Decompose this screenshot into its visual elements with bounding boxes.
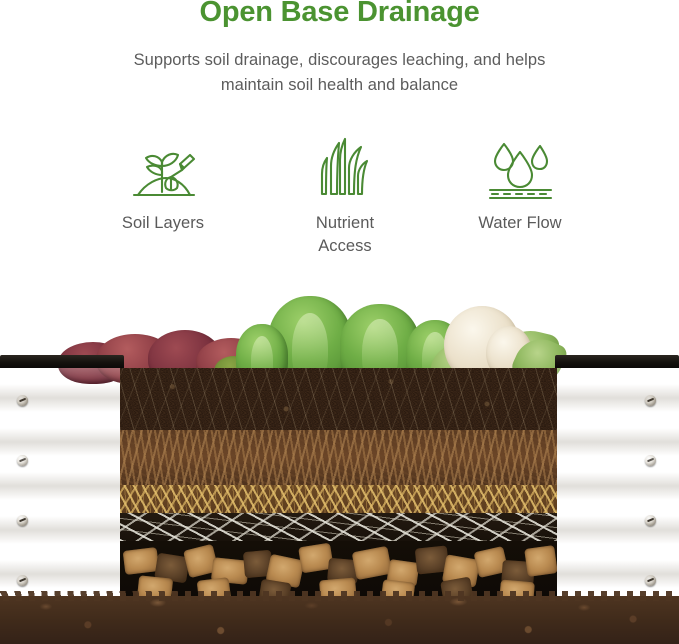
grass-blades-icon (250, 130, 440, 200)
feature-item-water-flow: Water Flow (425, 130, 615, 235)
feature-list: Soil Layers Nutrient Access (0, 130, 679, 275)
panel-screw (645, 575, 656, 586)
panel-screw (17, 575, 28, 586)
bed-top-rail-left (0, 355, 124, 368)
garden-bed-photo (0, 280, 679, 644)
feature-label-line-1: Water Flow (478, 214, 561, 232)
feature-label-nutrient-access: Nutrient Access (250, 212, 440, 258)
plant-shovel-icon (68, 130, 258, 200)
bed-panel-left (0, 368, 120, 608)
ground-soil (0, 596, 679, 644)
feature-item-soil-layers: Soil Layers (68, 130, 258, 235)
subtitle-line-1: Supports soil drainage, discourages leac… (134, 51, 546, 69)
product-feature-panel: Open Base Drainage Supports soil drainag… (0, 0, 679, 644)
feature-label-water-flow: Water Flow (425, 212, 615, 235)
water-droplets-icon (425, 130, 615, 200)
subtitle-line-2: maintain soil health and balance (60, 73, 620, 98)
feature-item-nutrient-access: Nutrient Access (250, 130, 440, 258)
raised-bed-frame (0, 368, 679, 608)
page-title: Open Base Drainage (0, 0, 679, 33)
panel-screw (17, 395, 28, 406)
feature-label-soil-layers: Soil Layers (68, 212, 258, 235)
panel-screw (17, 515, 28, 526)
bed-panel-right (557, 368, 679, 608)
feature-label-line-1: Soil Layers (122, 214, 204, 232)
panel-screw (645, 455, 656, 466)
panel-screw (645, 395, 656, 406)
page-subtitle: Supports soil drainage, discourages leac… (60, 48, 620, 98)
feature-label-line-1: Nutrient (316, 214, 374, 232)
panel-screw (17, 455, 28, 466)
feature-label-line-2: Access (318, 237, 371, 255)
header: Open Base Drainage Supports soil drainag… (0, 0, 679, 118)
panel-screw (645, 515, 656, 526)
bed-top-rail-right (555, 355, 679, 368)
